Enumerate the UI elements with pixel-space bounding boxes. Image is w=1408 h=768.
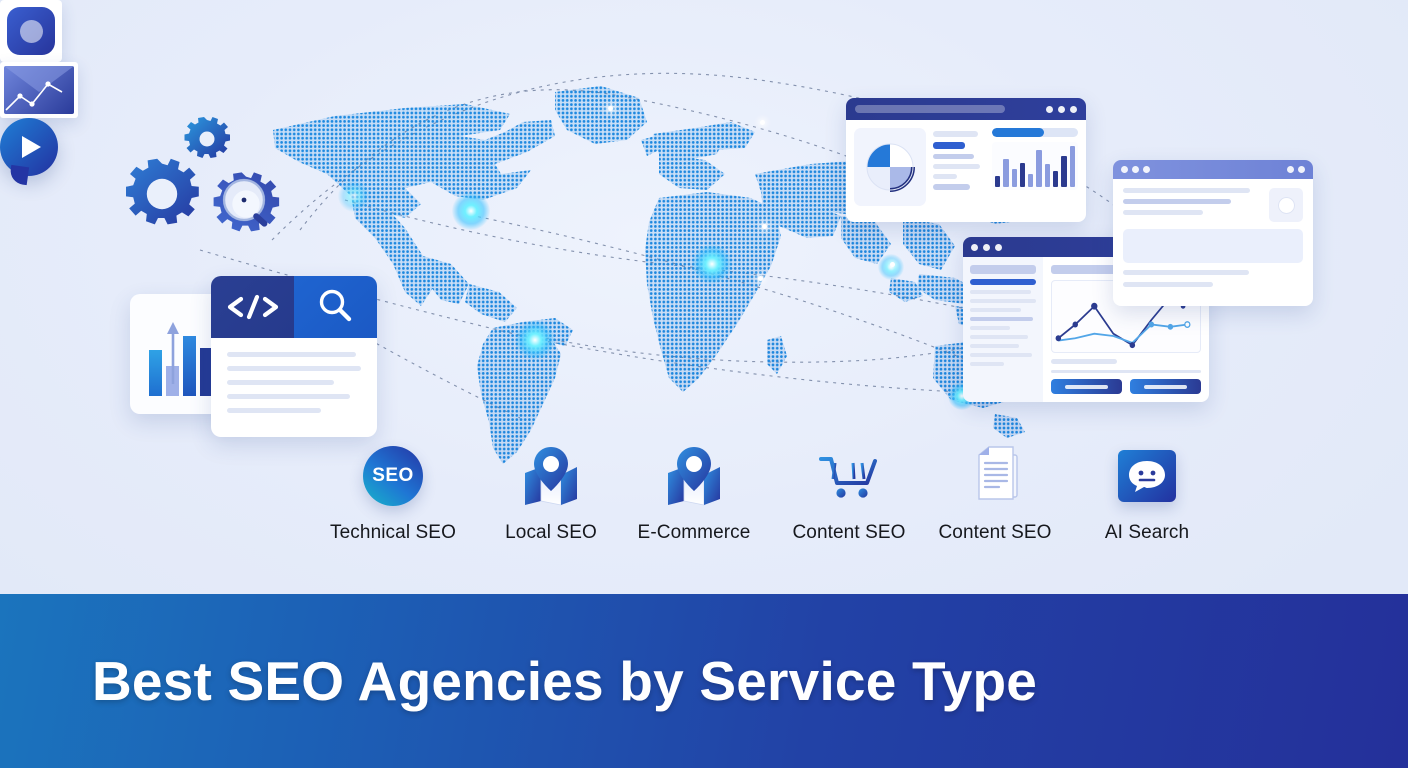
service-icon-row: SEO Technical SEO: [0, 440, 1408, 560]
progress-bar: [992, 128, 1078, 137]
image-thumbnail: [4, 66, 74, 114]
card-text-lines: [211, 338, 377, 427]
window-dot: [995, 244, 1002, 251]
chat-bubble-icon: [1118, 450, 1176, 502]
play-icon: [22, 136, 41, 158]
hero-illustration: SEO Technical SEO: [0, 0, 1408, 594]
seo-badge-text: SEO: [372, 465, 414, 487]
analytics-dashboard-card[interactable]: [846, 98, 1086, 222]
map-sparkle: [608, 106, 613, 111]
window-dot: [1121, 166, 1128, 173]
app-icon-tile[interactable]: [0, 0, 62, 62]
browser-title-bar: [1113, 160, 1313, 179]
page-title: Best SEO Agencies by Service Type: [92, 649, 1037, 713]
magnifier-icon: [294, 276, 377, 338]
app-icon: [7, 7, 55, 55]
secondary-button[interactable]: [1130, 379, 1201, 394]
map-sparkle: [758, 276, 763, 281]
poster-root: SEO Technical SEO: [0, 0, 1408, 768]
dashboard-title-bar: [846, 98, 1086, 120]
service-label: Content SEO: [769, 522, 929, 544]
title-banner: Best SEO Agencies by Service Type: [0, 594, 1408, 768]
service-item-technical-seo[interactable]: SEO Technical SEO: [313, 440, 473, 544]
map-pin-icon: [662, 445, 726, 507]
window-dot: [1132, 166, 1139, 173]
article-sidebar: [963, 257, 1043, 402]
dashboard-bar-chart: [992, 142, 1078, 190]
service-label: AI Search: [1067, 522, 1227, 544]
dashboard-text-lines: [933, 128, 985, 206]
window-dot: [983, 244, 990, 251]
map-pin-icon: [519, 445, 583, 507]
service-item-ecommerce[interactable]: E-Commerce: [614, 440, 774, 544]
service-label: Technical SEO: [313, 522, 473, 544]
window-dot: [1143, 166, 1150, 173]
url-pill: [855, 105, 1005, 113]
browser-text-lines: [1123, 188, 1261, 222]
primary-button[interactable]: [1051, 379, 1122, 394]
browser-window-card[interactable]: [1113, 160, 1313, 306]
code-search-card[interactable]: [211, 276, 377, 437]
service-item-ai-search[interactable]: AI Search: [1067, 440, 1227, 544]
service-item-content-seo-doc[interactable]: Content SEO: [915, 440, 1075, 544]
window-dot: [1058, 106, 1065, 113]
window-dot: [1070, 106, 1077, 113]
content-panel: [1123, 229, 1303, 263]
thumbnail: [1269, 188, 1303, 222]
service-label: Local SEO: [471, 522, 631, 544]
gears-cluster: [110, 108, 300, 260]
window-dot: [1287, 166, 1294, 173]
document-icon: [965, 445, 1025, 507]
window-dot: [971, 244, 978, 251]
service-label: E-Commerce: [614, 522, 774, 544]
shopping-cart-icon: [817, 449, 881, 503]
window-dot: [1298, 166, 1305, 173]
image-thumbnail-tile[interactable]: [0, 62, 78, 118]
map-sparkle: [760, 120, 765, 125]
map-sparkle: [762, 224, 767, 229]
code-icon: [211, 276, 294, 338]
service-item-content-seo-cart[interactable]: Content SEO: [769, 440, 929, 544]
map-sparkle: [890, 262, 895, 267]
video-play-bubble[interactable]: [0, 118, 60, 178]
service-item-local-seo[interactable]: Local SEO: [471, 440, 631, 544]
seo-badge-icon: SEO: [363, 446, 423, 506]
service-label: Content SEO: [915, 522, 1075, 544]
pie-chart: [854, 128, 926, 206]
window-dot: [1046, 106, 1053, 113]
